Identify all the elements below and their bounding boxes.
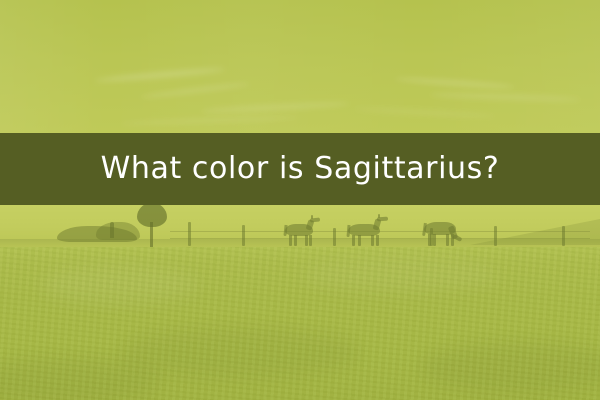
- grass-highlight: [300, 257, 500, 293]
- fence-post: [494, 226, 497, 246]
- image-canvas: What color is Sagittarius?: [0, 0, 600, 400]
- fence-post: [242, 225, 245, 246]
- title-banner: What color is Sagittarius?: [0, 133, 600, 205]
- fence-post: [333, 228, 336, 246]
- fence-post: [562, 226, 565, 246]
- banner-title-text: What color is Sagittarius?: [101, 154, 500, 184]
- bush: [96, 222, 140, 240]
- horse-silhouette: [285, 219, 321, 246]
- grass-shadow: [120, 327, 360, 377]
- horse-silhouette: [348, 218, 390, 246]
- grass-highlight: [40, 265, 200, 305]
- tree-trunk: [150, 222, 153, 248]
- foreground-meadow: [0, 247, 600, 400]
- fence-post: [188, 222, 191, 246]
- fence-post: [110, 222, 114, 238]
- horse-silhouette: [420, 219, 466, 246]
